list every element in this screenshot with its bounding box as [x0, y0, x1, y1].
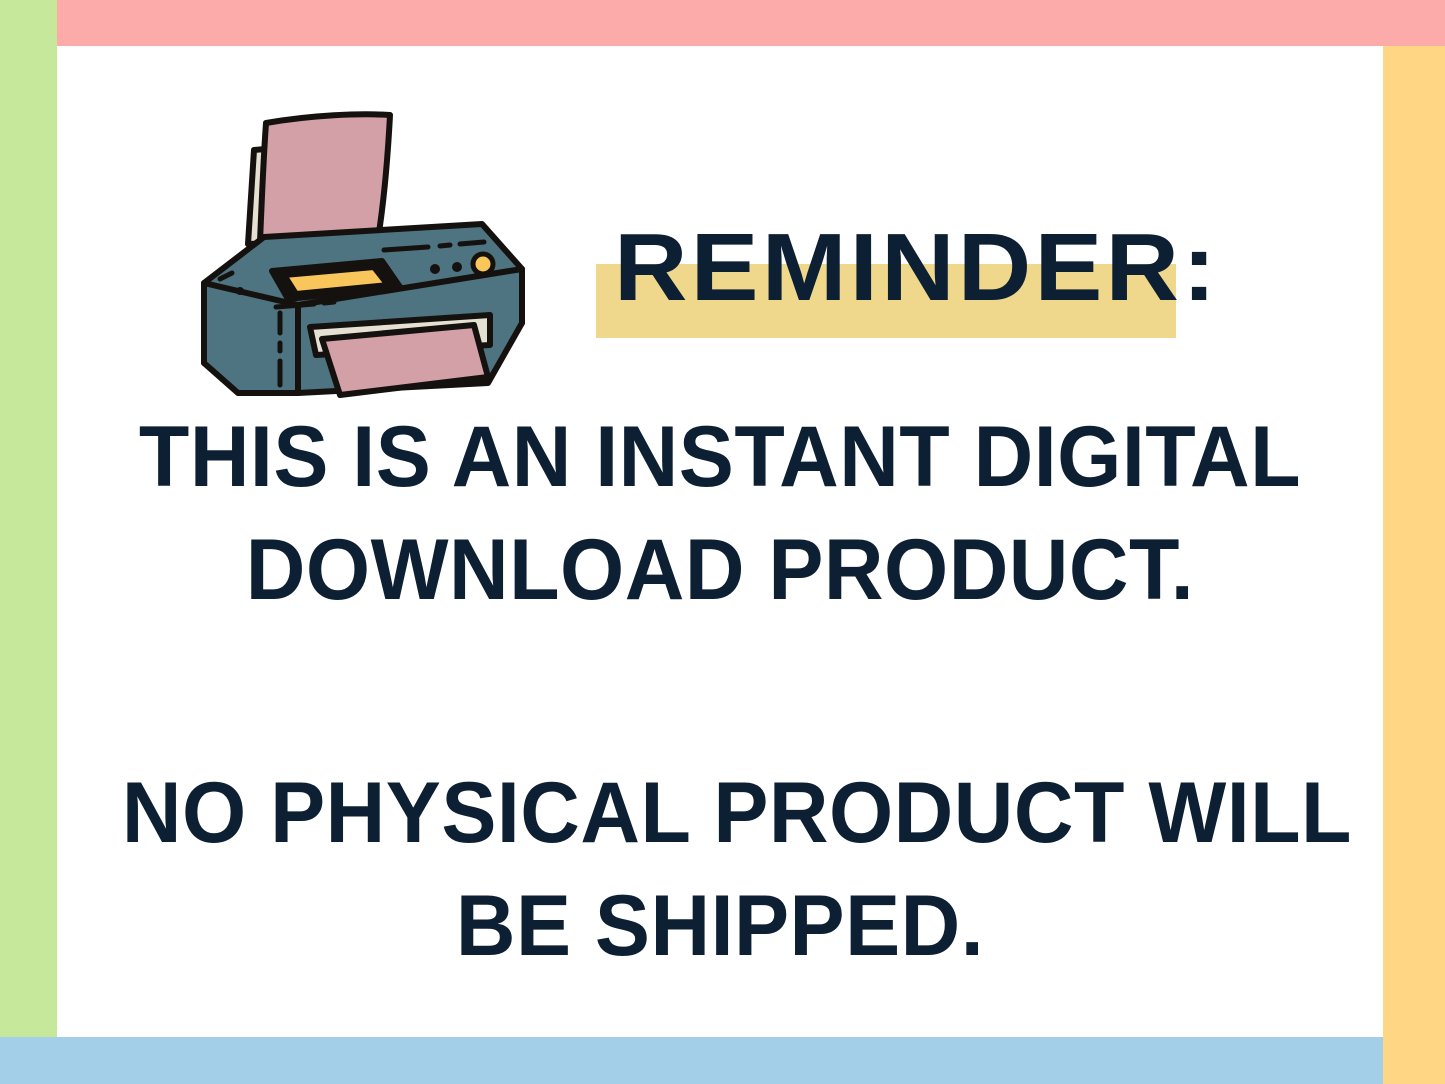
notice-graphic: REMINDER: THIS IS AN INSTANT DIGITAL DOW…	[0, 0, 1445, 1084]
border-band-top	[57, 0, 1445, 46]
body-line: BE SHIPPED.	[122, 870, 1318, 983]
headline-block: REMINDER:	[596, 216, 1216, 391]
printer-icon	[192, 101, 537, 401]
body-line: DOWNLOAD PRODUCT.	[122, 514, 1318, 627]
border-band-right	[1383, 46, 1445, 1084]
body-line: NO PHYSICAL PRODUCT WILL	[122, 757, 1318, 870]
border-band-bottom	[0, 1037, 1383, 1084]
paragraph-spacer	[97, 627, 1343, 757]
page-title: REMINDER:	[614, 216, 1250, 320]
body-copy: THIS IS AN INSTANT DIGITAL DOWNLOAD PROD…	[97, 401, 1343, 983]
content-plate: REMINDER: THIS IS AN INSTANT DIGITAL DOW…	[57, 46, 1383, 1037]
body-line: THIS IS AN INSTANT DIGITAL	[122, 401, 1318, 514]
border-band-left	[0, 0, 57, 1037]
